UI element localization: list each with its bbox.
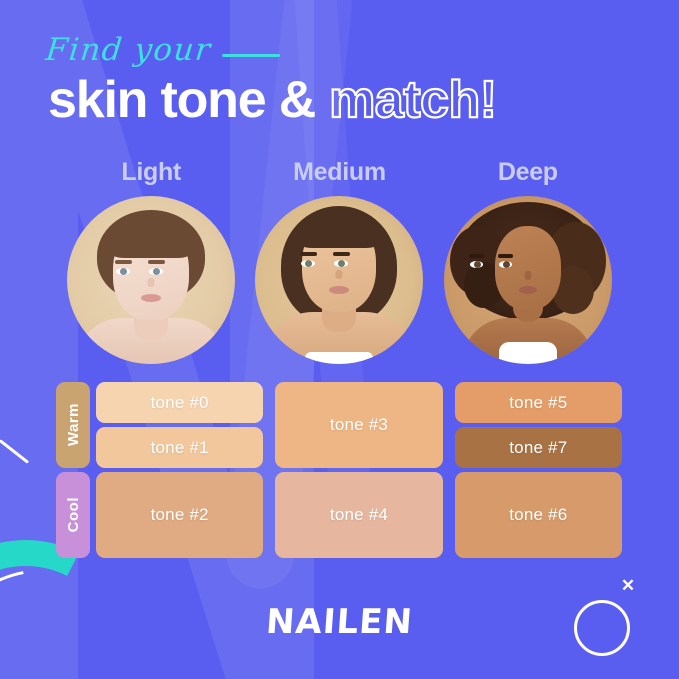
script-headline-row: Find your	[46, 32, 280, 68]
brand-logo: NAILEN	[0, 602, 679, 642]
photo-column-light	[57, 196, 245, 364]
temperature-tab-warm-label: Warm	[65, 403, 82, 446]
swatch-tone-0[interactable]: tone #0	[96, 382, 263, 423]
swatch-columns: tone #0 tone #1 tone #2 tone #3 tone #4 …	[96, 382, 622, 558]
temperature-tab-column: Warm Cool	[56, 382, 90, 558]
swatch-column-medium: tone #3 tone #4	[275, 382, 442, 558]
category-column-light: Light	[57, 158, 245, 187]
model-photo-medium	[255, 196, 423, 364]
script-headline: Find your	[44, 32, 213, 68]
swatch-grid: Warm Cool tone #0 tone #1 tone #2 tone #…	[56, 382, 622, 558]
category-label-light: Light	[57, 158, 245, 187]
script-dash-decoration	[222, 54, 280, 57]
skin-tone-match-poster: ✕ Find your skin tone & match! Light Med…	[0, 0, 679, 679]
temperature-tab-cool-label: Cool	[65, 497, 82, 532]
swatch-tone-2[interactable]: tone #2	[96, 472, 263, 558]
swatch-column-light: tone #0 tone #1 tone #2	[96, 382, 263, 558]
x-mark-icon: ✕	[620, 578, 636, 594]
swatch-tone-4[interactable]: tone #4	[275, 472, 442, 558]
category-column-deep: Deep	[434, 158, 622, 187]
swatch-column-deep: tone #5 tone #7 tone #6	[455, 382, 622, 558]
swatch-tone-7[interactable]: tone #7	[455, 427, 622, 468]
model-photo-light	[67, 196, 235, 364]
model-photo-deep	[444, 196, 612, 364]
swatch-tone-6[interactable]: tone #6	[455, 472, 622, 558]
temperature-tab-cool[interactable]: Cool	[56, 472, 90, 558]
headline-outline-part: match!	[329, 70, 496, 130]
model-photo-row	[57, 196, 622, 364]
swatch-tone-3[interactable]: tone #3	[275, 382, 442, 468]
category-column-medium: Medium	[245, 158, 433, 187]
white-tick-decoration	[0, 439, 29, 464]
swatch-tone-5[interactable]: tone #5	[455, 382, 622, 423]
category-label-deep: Deep	[434, 158, 622, 187]
portrait-light	[91, 210, 211, 364]
category-header-row: Light Medium Deep	[57, 158, 622, 187]
photo-column-medium	[245, 196, 433, 364]
category-label-medium: Medium	[245, 158, 433, 187]
photo-column-deep	[434, 196, 622, 364]
swatch-tone-1[interactable]: tone #1	[96, 427, 263, 468]
portrait-medium	[277, 206, 401, 364]
temperature-tab-warm[interactable]: Warm	[56, 382, 90, 468]
headline-solid-part: skin tone &	[48, 70, 315, 130]
main-headline: skin tone & match!	[48, 70, 497, 130]
portrait-deep	[450, 200, 606, 364]
